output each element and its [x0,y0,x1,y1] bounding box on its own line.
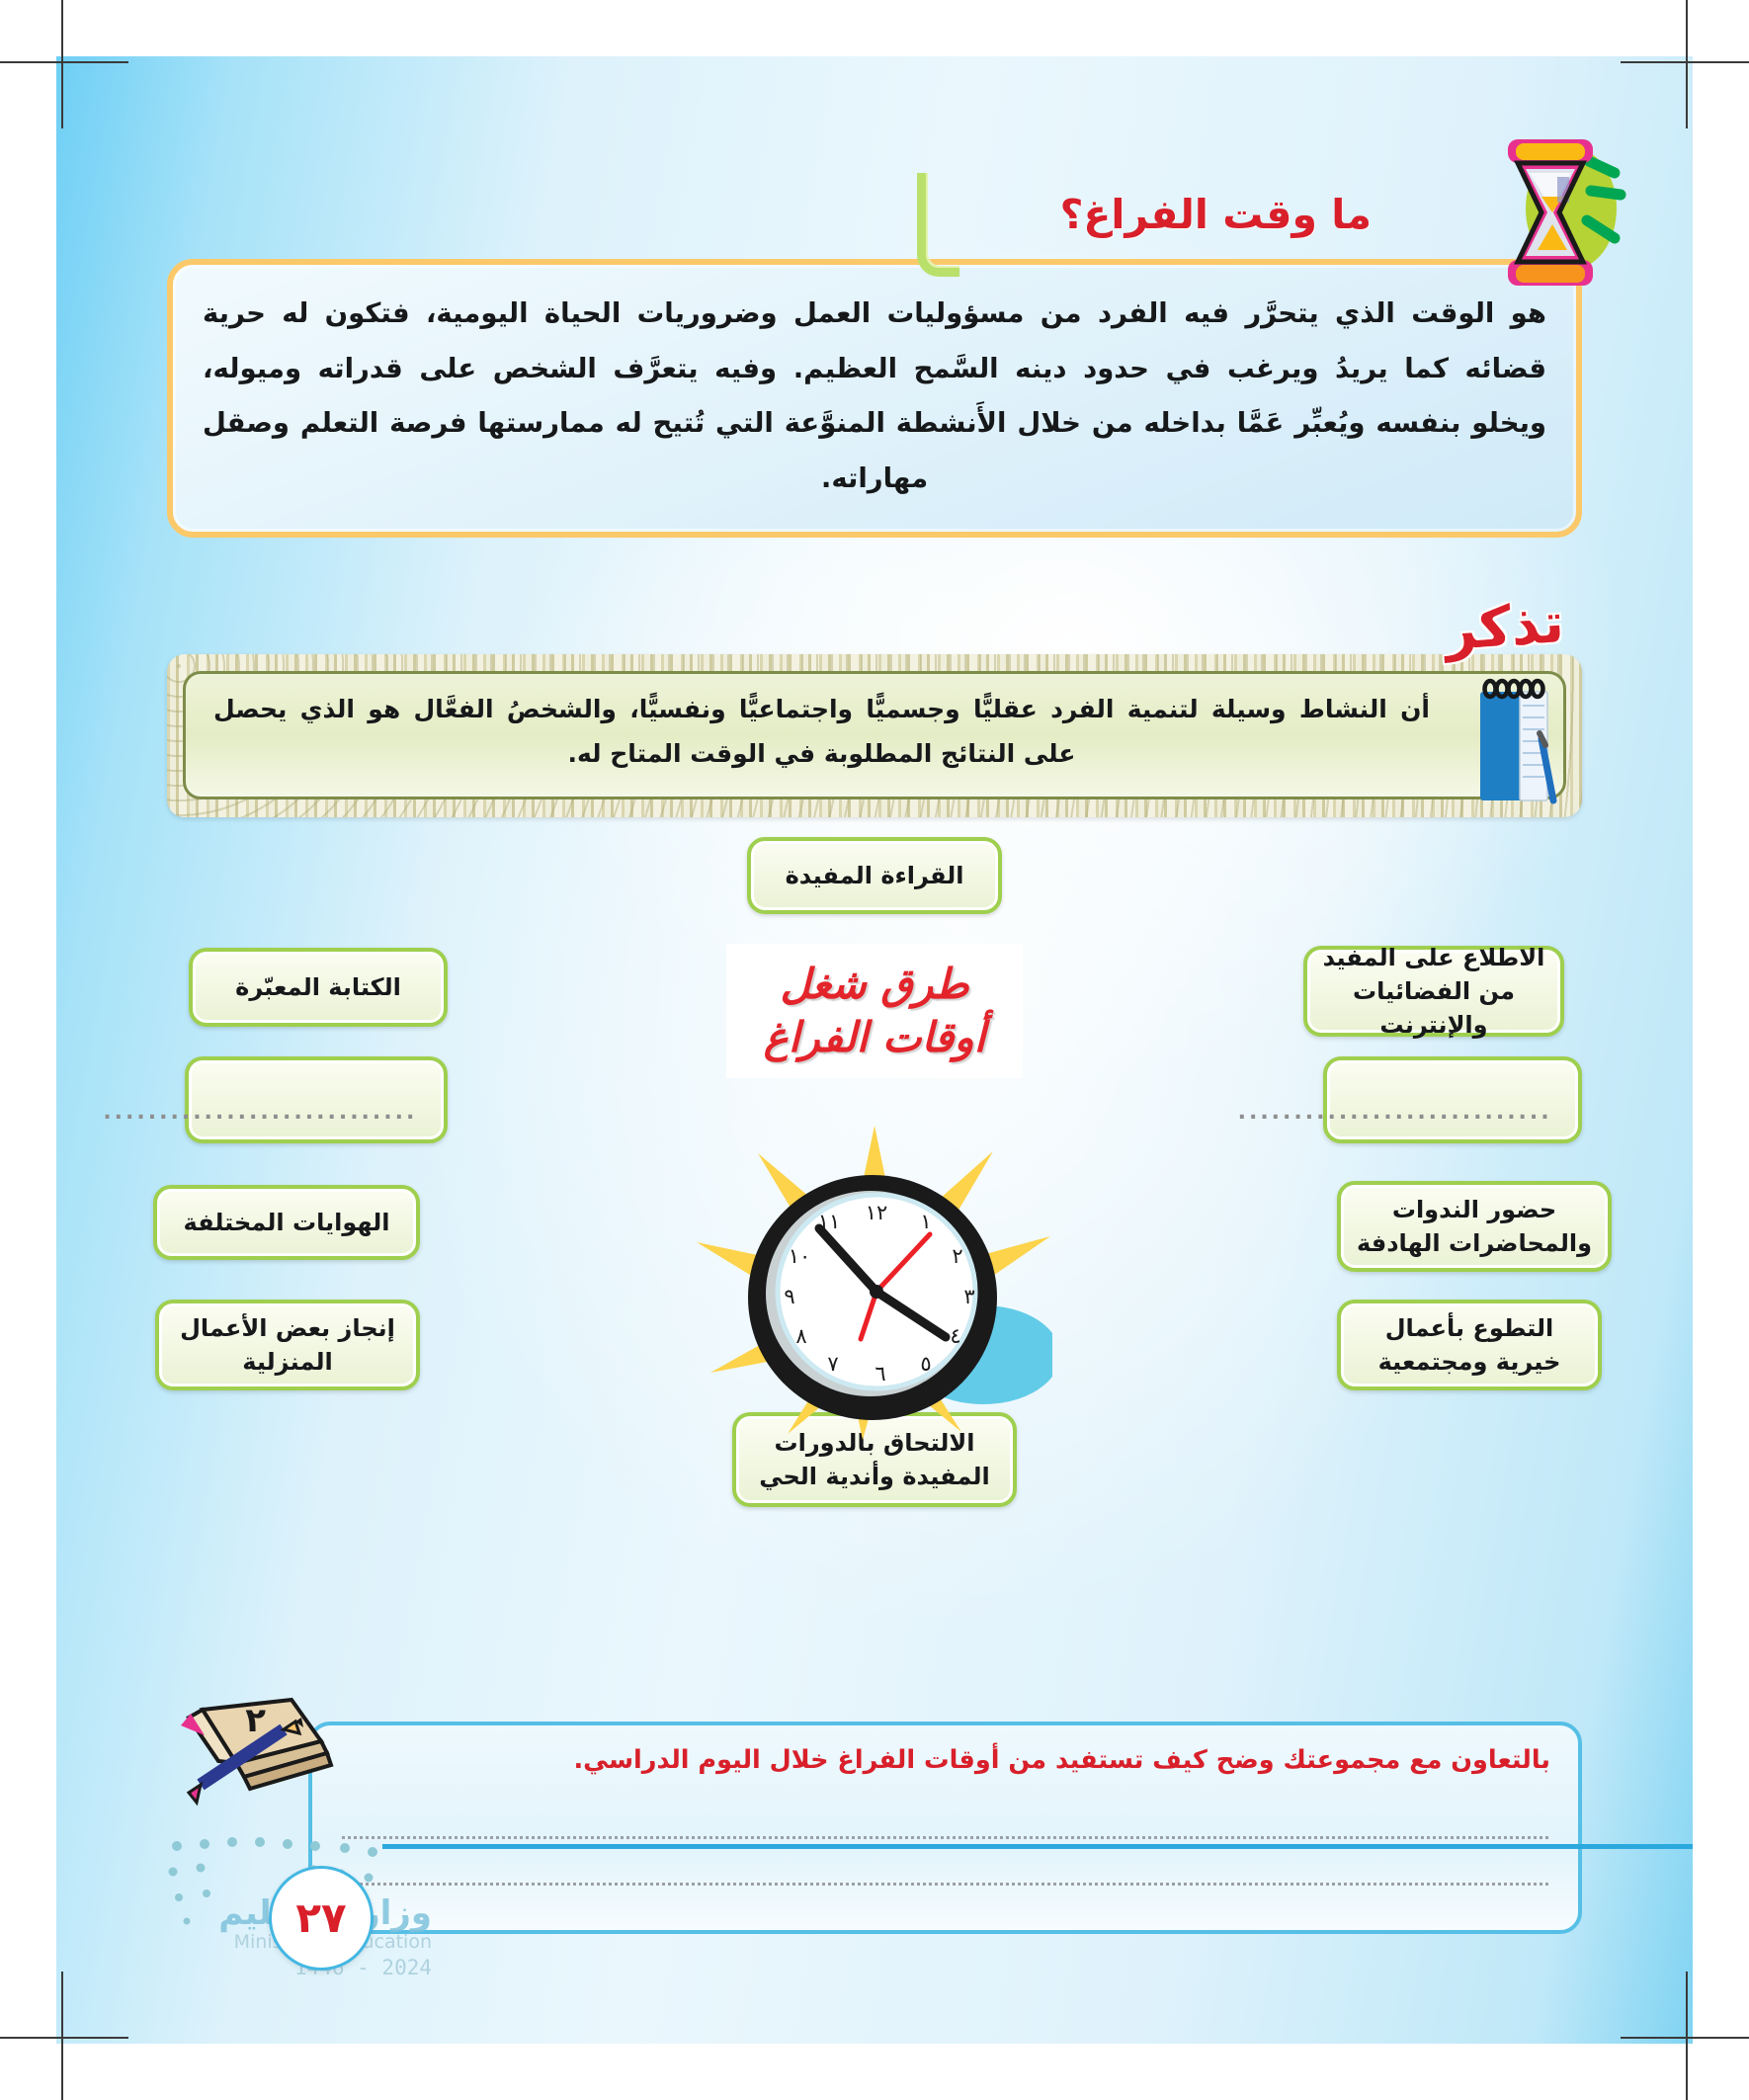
remember-text: أن النشاط وسيلة لتنمية الفرد عقليًّا وجس… [213,688,1430,776]
mind-map-node-writing[interactable]: الكتابة المعبّرة [189,948,448,1027]
notepad-pen-icon [1470,674,1564,807]
svg-text:٥: ٥ [920,1352,931,1376]
definition-box: هو الوقت الذي يتحرَّر فيه الفرد من مسؤول… [167,259,1582,538]
textbook-page: ما وقت الفراغ؟ هو الوقت الذي يتحرَّر فيه… [56,56,1693,2044]
node-label: الهوايات المختلفة [184,1206,390,1239]
node-label: الكتابة المعبّرة [235,970,401,1004]
lesson-title-row: ما وقت الفراغ؟ [887,143,1638,272]
svg-text:٦: ٦ [874,1362,885,1386]
mind-map-node-seminars[interactable]: حضور الندوات والمحاضرات الهادفة [1337,1181,1612,1272]
page-title: ما وقت الفراغ؟ [1060,191,1372,238]
activity-writing-line[interactable] [342,1793,1548,1839]
crop-mark-bottom-left-h [0,2037,128,2039]
node-blank-line: ............................ [1353,1097,1551,1128]
crop-mark-bottom-right-v [1686,1972,1688,2100]
crop-mark-top-right-v [1686,0,1688,128]
svg-text:٨: ٨ [795,1324,806,1348]
svg-text:٤: ٤ [950,1324,960,1348]
page-number: ٢٧ [295,1897,346,1939]
hourglass-icon [1480,133,1628,292]
svg-text:١٢: ١٢ [866,1201,888,1224]
remember-heading: تذكر [1408,588,1601,685]
mind-map-node-hobbies[interactable]: الهوايات المختلفة [153,1185,420,1260]
svg-text:١: ١ [920,1210,931,1233]
book-pencil-icon: ٢ [175,1692,358,1835]
crop-mark-bottom-left-v [61,1972,63,2100]
svg-text:٢: ٢ [952,1244,962,1268]
center-title-line2: أوقات الفراغ [764,1011,986,1064]
svg-text:٣: ٣ [963,1285,974,1308]
node-label: القراءة المفيدة [786,859,964,892]
activity-prompt: بالتعاون مع مجموعتك وضح كيف تستفيد من أو… [340,1743,1550,1777]
page-footer: وزارة التعليم Ministry of Education 2024… [116,1836,541,2009]
node-label: الاطلاع على المفيد من الفضائيات والإنترن… [1317,941,1550,1042]
mind-map-node-blank-right[interactable]: ............................ [1323,1056,1582,1143]
clock-sunburst-icon: ١٢١ ٢٣ ٤٥ ٦٧ ٨٩ ١٠١١ [697,1126,1052,1452]
svg-text:١٠: ١٠ [789,1244,811,1268]
node-label: حضور الندوات والمحاضرات الهادفة [1351,1193,1598,1260]
crop-mark-top-right-h [1621,61,1749,63]
mind-map-node-housework[interactable]: إنجاز بعض الأعمال المنزلية [155,1300,420,1390]
activity-number: ٢ [245,1701,266,1740]
footer-rule [382,1844,1693,1849]
title-bracket-decoration [917,173,959,277]
mind-map-node-reading[interactable]: القراءة المفيدة [747,837,1002,914]
node-label: إنجاز بعض الأعمال المنزلية [169,1311,406,1379]
mind-map-center-title: طرق شغل أوقات الفراغ [726,944,1023,1078]
center-title-line1: طرق شغل [780,958,968,1011]
mind-map-diagram: طرق شغل أوقات الفراغ ١٢١ [167,837,1582,1697]
mind-map-node-volunteering[interactable]: التطوع بأعمال خيرية ومجتمعية [1337,1300,1602,1390]
page-number-badge: ٢٧ [269,1866,374,1971]
svg-text:٩: ٩ [784,1285,794,1308]
edition-year: 2024 - 1446 [125,1956,432,1979]
crop-mark-bottom-right-h [1621,2037,1749,2039]
crop-mark-top-left-h [0,61,128,63]
remember-box: أن النشاط وسيلة لتنمية الفرد عقليًّا وجس… [183,671,1566,799]
mind-map-node-blank-left[interactable]: ............................ [185,1056,448,1143]
mind-map-node-media[interactable]: الاطلاع على المفيد من الفضائيات والإنترن… [1303,946,1564,1037]
crop-mark-top-left-v [61,0,63,128]
svg-text:٧: ٧ [827,1352,838,1376]
node-label: التطوع بأعمال خيرية ومجتمعية [1351,1311,1588,1379]
node-blank-line: ............................ [215,1097,418,1128]
definition-text: هو الوقت الذي يتحرَّر فيه الفرد من مسؤول… [203,287,1546,506]
